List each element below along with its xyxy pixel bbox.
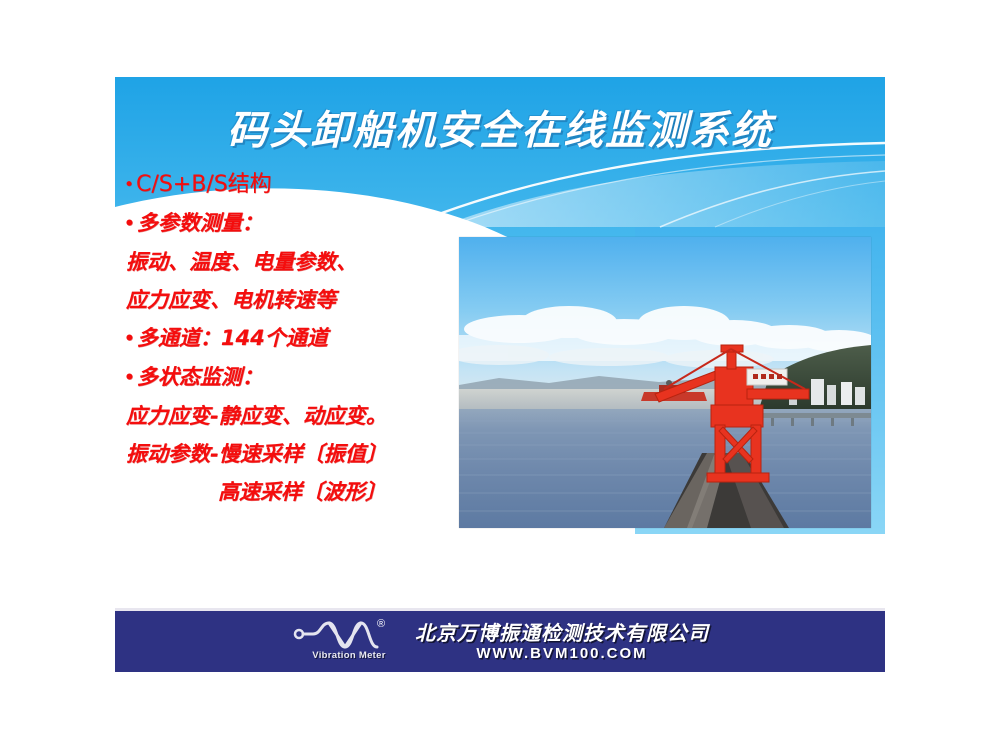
company-url: WWW.BVM100.COM xyxy=(415,645,709,663)
ship-unloader-photo xyxy=(459,237,871,528)
logo-subtitle: Vibration Meter xyxy=(299,650,399,661)
registered-trademark-icon: ® xyxy=(377,618,385,630)
bullet-marker: • xyxy=(124,359,135,397)
company-identity: 北京万博振通检测技术有限公司 WWW.BVM100.COM xyxy=(415,621,709,663)
list-item-label: 多参数测量： xyxy=(137,211,263,235)
list-item-label: 多通道：144个通道 xyxy=(137,326,328,350)
footer-content: ® Vibration Meter 北京万博振通检测技术有限公司 WWW.BVM… xyxy=(115,611,885,672)
list-item-label: C/S+B/S结构 xyxy=(136,172,272,197)
bullet-list: •C/S+B/S结构 •多参数测量： 振动、温度、电量参数、 应力应变、电机转速… xyxy=(124,166,474,511)
bullet-marker: • xyxy=(124,205,135,243)
list-item-label: 多状态监测： xyxy=(137,365,263,389)
list-item: 高速采样〔波形〕 xyxy=(124,473,474,511)
list-item: 振动、温度、电量参数、 xyxy=(124,243,474,281)
list-item-label: 振动、温度、电量参数、 xyxy=(126,250,357,274)
list-item: •C/S+B/S结构 xyxy=(124,166,474,204)
vibration-meter-logo: ® Vibration Meter xyxy=(291,617,403,667)
list-item: 应力应变-静应变、动应变。 xyxy=(124,397,474,435)
bullet-marker: • xyxy=(124,320,135,358)
list-item: 振动参数-慢速采样〔振值〕 xyxy=(124,435,474,473)
footer-bar: ® Vibration Meter 北京万博振通检测技术有限公司 WWW.BVM… xyxy=(115,608,885,672)
list-item: •多参数测量： xyxy=(124,204,474,243)
list-item: 应力应变、电机转速等 xyxy=(124,281,474,319)
slide-canvas: 码头卸船机安全在线监测系统 •C/S+B/S结构 •多参数测量： 振动、温度、电… xyxy=(0,0,1000,750)
photo-content xyxy=(459,237,871,528)
bullet-marker: • xyxy=(124,166,134,204)
list-item-label: 高速采样〔波形〕 xyxy=(218,480,386,504)
slide-title: 码头卸船机安全在线监测系统 xyxy=(115,98,885,156)
company-name: 北京万博振通检测技术有限公司 xyxy=(415,621,709,645)
list-item: •多通道：144个通道 xyxy=(124,319,474,358)
list-item-label: 振动参数-慢速采样〔振值〕 xyxy=(126,442,387,466)
list-item-label: 应力应变、电机转速等 xyxy=(126,288,336,312)
list-item: •多状态监测： xyxy=(124,358,474,397)
list-item-label: 应力应变-静应变、动应变。 xyxy=(126,404,387,428)
